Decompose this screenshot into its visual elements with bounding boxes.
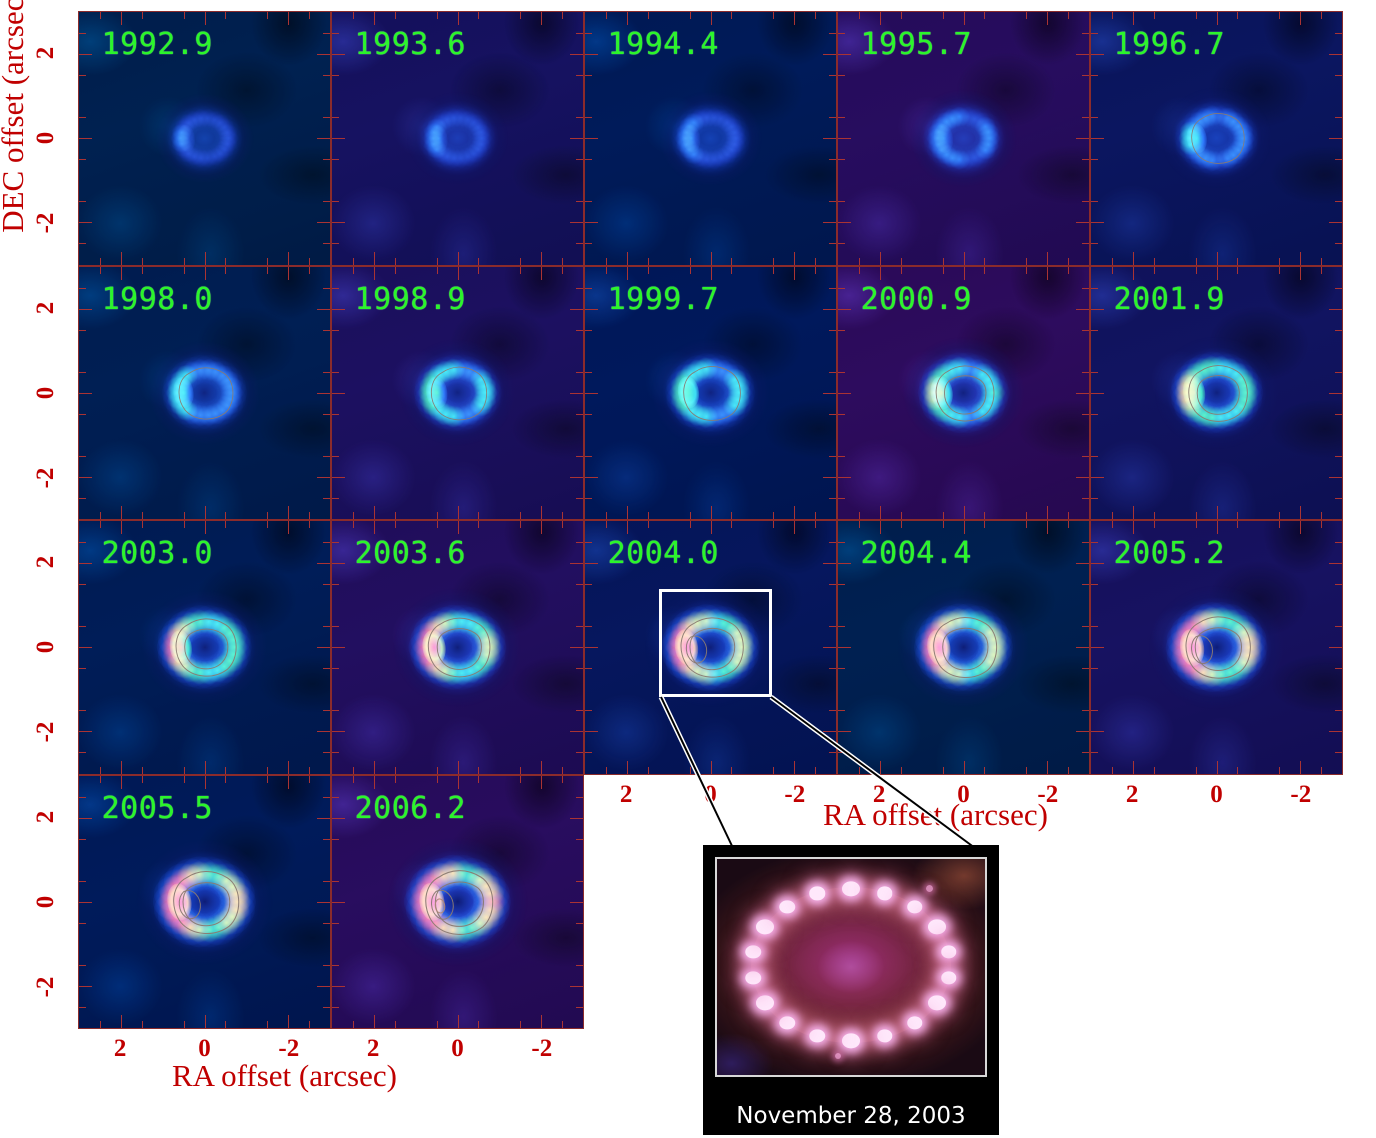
- axis-tick: [520, 267, 521, 274]
- axis-tick: [773, 267, 774, 274]
- axis-tick: [1329, 393, 1342, 394]
- axis-tick: [829, 456, 836, 457]
- axis-tick: [1091, 159, 1098, 160]
- axis-tick: [880, 761, 881, 774]
- axis-tick: [1026, 767, 1027, 774]
- axis-tick: [437, 512, 438, 519]
- axis-tick: [562, 1021, 563, 1028]
- axis-tick: [829, 752, 836, 753]
- axis-tick: [79, 923, 86, 924]
- axis-tick: [984, 512, 985, 519]
- axis-tick: [395, 12, 396, 19]
- epoch-panel-2005-5[interactable]: 2005.5: [78, 775, 331, 1030]
- axis-tick: [1237, 258, 1238, 265]
- axis-tick: [79, 902, 92, 903]
- axis-tick: [943, 267, 944, 274]
- epoch-panel-2006-2[interactable]: 2006.2: [331, 775, 584, 1030]
- hst-ring-knot: [746, 971, 762, 984]
- axis-tick: [984, 267, 985, 274]
- axis-tick: [901, 767, 902, 774]
- axis-tick: [184, 12, 185, 19]
- hst-inset-frame: [715, 857, 987, 1077]
- axis-tick: [773, 521, 774, 528]
- axis-tick: [1076, 54, 1089, 55]
- axis-tick: [859, 258, 860, 265]
- axis-tick: [79, 288, 86, 289]
- axis-tick: [374, 521, 375, 534]
- axis-tick: [184, 267, 185, 274]
- epoch-panel-2003-6[interactable]: 2003.6: [331, 520, 584, 775]
- axis-tick: [309, 267, 310, 274]
- axis-tick: [332, 138, 345, 139]
- axis-tick: [731, 267, 732, 274]
- epoch-panel-2003-0[interactable]: 2003.0: [78, 520, 331, 775]
- epoch-label: 1998.9: [355, 282, 466, 317]
- axis-tick: [1112, 258, 1113, 265]
- axis-tick: [541, 761, 542, 774]
- axis-tick: [288, 776, 289, 789]
- axis-tick: [838, 752, 845, 753]
- axis-tick: [576, 75, 583, 76]
- axis-tick: [576, 1007, 583, 1008]
- axis-tick: [332, 563, 345, 564]
- axis-tick: [1068, 512, 1069, 519]
- axis-tick: [576, 839, 583, 840]
- axis-tick: [1076, 393, 1089, 394]
- axis-tick: [1279, 512, 1280, 519]
- axis-tick: [121, 1015, 122, 1028]
- axis-tick: [323, 797, 330, 798]
- axis-tick: [288, 1015, 289, 1028]
- hst-ring-knot: [877, 887, 893, 900]
- axis-tick: [1091, 542, 1098, 543]
- axis-tick: [585, 477, 598, 478]
- epoch-label: 2005.2: [1114, 536, 1225, 571]
- axis-tick: [576, 965, 583, 966]
- supernova-ring-emission: [927, 105, 1000, 172]
- axis-tick: [332, 986, 345, 987]
- axis-tick: [437, 767, 438, 774]
- axis-tick: [576, 881, 583, 882]
- axis-tick: [838, 243, 845, 244]
- axis-tick: [838, 731, 851, 732]
- axis-tick: [100, 12, 101, 19]
- axis-tick: [79, 839, 86, 840]
- axis-tick: [332, 839, 339, 840]
- axis-tick: [829, 288, 836, 289]
- axis-tick: [323, 117, 330, 118]
- axis-tick: [288, 267, 289, 280]
- epoch-panel-1995-7[interactable]: 1995.7: [837, 11, 1090, 266]
- epoch-panel-2004-0[interactable]: 2004.0: [584, 520, 837, 775]
- axis-tick: [1196, 521, 1197, 528]
- axis-tick: [606, 258, 607, 265]
- axis-tick: [79, 414, 86, 415]
- axis-tick: [1068, 767, 1069, 774]
- axis-tick: [332, 75, 339, 76]
- axis-tick: [1329, 54, 1342, 55]
- axis-tick: [395, 521, 396, 528]
- axis-tick: [829, 372, 836, 373]
- axis-tick: [332, 923, 339, 924]
- hst-ring-knot: [941, 945, 957, 958]
- axis-tick: [1091, 477, 1104, 478]
- axis-tick: [1279, 12, 1280, 19]
- axis-tick: [1335, 33, 1342, 34]
- axis-tick: [267, 512, 268, 519]
- axis-tick: [79, 881, 86, 882]
- axis-tick: [332, 498, 339, 499]
- axis-tick: [332, 477, 345, 478]
- axis-tick: [1082, 710, 1089, 711]
- axis-tick: [458, 12, 459, 25]
- axis-tick: [1154, 12, 1155, 19]
- axis-tick: [880, 506, 881, 519]
- axis-tick: [1217, 12, 1218, 25]
- contour-overlay: [158, 859, 251, 945]
- axis-tick: [541, 776, 542, 789]
- axis-tick: [823, 309, 836, 310]
- axis-tick: [859, 521, 860, 528]
- axis-tick: [585, 54, 598, 55]
- axis-tick: [838, 117, 845, 118]
- axis-tick: [690, 12, 691, 19]
- axis-tick: [562, 267, 563, 274]
- axis-tick: [648, 512, 649, 519]
- axis-tick: [184, 258, 185, 265]
- epoch-panel-2005-2[interactable]: 2005.2: [1090, 520, 1343, 775]
- axis-tick: [1082, 372, 1089, 373]
- dec-tick-label: 0: [32, 387, 60, 400]
- axis-tick: [576, 668, 583, 669]
- axis-tick: [576, 923, 583, 924]
- axis-tick: [79, 138, 92, 139]
- axis-tick: [901, 512, 902, 519]
- axis-tick: [332, 797, 339, 798]
- axis-tick: [309, 1021, 310, 1028]
- axis-tick: [838, 563, 851, 564]
- axis-tick: [323, 159, 330, 160]
- supernova-ring-emission: [171, 107, 238, 169]
- axis-tick: [184, 776, 185, 783]
- hst-ejecta-core: [818, 941, 884, 993]
- epoch-panel-1998-9[interactable]: 1998.9: [331, 266, 584, 521]
- axis-tick: [570, 563, 583, 564]
- axis-tick: [711, 521, 712, 534]
- axis-tick: [815, 12, 816, 19]
- axis-tick: [317, 731, 330, 732]
- axis-tick: [648, 12, 649, 19]
- axis-tick: [823, 563, 836, 564]
- axis-tick: [964, 521, 965, 534]
- axis-tick: [317, 818, 330, 819]
- axis-tick: [267, 776, 268, 783]
- axis-tick: [606, 512, 607, 519]
- axis-tick: [570, 731, 583, 732]
- axis-tick: [79, 626, 86, 627]
- epoch-panel-2000-9[interactable]: 2000.9: [837, 266, 1090, 521]
- contour-overlay: [666, 606, 755, 688]
- axis-tick: [317, 902, 330, 903]
- axis-tick: [838, 54, 851, 55]
- axis-tick: [1076, 477, 1089, 478]
- axis-tick: [829, 33, 836, 34]
- axis-tick: [332, 584, 339, 585]
- axis-tick: [838, 288, 845, 289]
- axis-tick: [323, 881, 330, 882]
- axis-tick: [1091, 75, 1098, 76]
- axis-tick: [478, 12, 479, 19]
- axis-tick: [1068, 258, 1069, 265]
- axis-tick: [1329, 647, 1342, 648]
- axis-tick: [1300, 761, 1301, 774]
- axis-tick: [317, 222, 330, 223]
- supernova-ring-emission: [675, 106, 746, 171]
- dec-tick-label: 2: [32, 556, 60, 569]
- axis-tick: [585, 731, 598, 732]
- axis-tick: [838, 542, 845, 543]
- axis-tick: [901, 521, 902, 528]
- axis-tick: [142, 12, 143, 19]
- axis-tick: [1026, 258, 1027, 265]
- axis-tick: [121, 521, 122, 534]
- axis-tick: [1154, 267, 1155, 274]
- axis-tick: [1335, 243, 1342, 244]
- axis-tick: [1133, 761, 1134, 774]
- axis-tick: [627, 12, 628, 25]
- axis-tick: [576, 33, 583, 34]
- axis-tick: [100, 521, 101, 528]
- ra-axis-title-row4: RA offset (arcsec): [172, 1058, 397, 1094]
- dec-tick-label: -2: [32, 722, 60, 743]
- figure-root: DEC offset (arcsec) 1992.91993.61994.419…: [0, 0, 1376, 1138]
- axis-tick: [773, 12, 774, 19]
- axis-tick: [288, 761, 289, 774]
- axis-tick: [332, 626, 339, 627]
- axis-tick: [585, 309, 598, 310]
- axis-tick: [1335, 288, 1342, 289]
- axis-tick: [100, 512, 101, 519]
- contour-overlay: [919, 606, 1009, 689]
- axis-tick: [332, 33, 339, 34]
- axis-tick: [838, 201, 845, 202]
- axis-tick: [79, 393, 92, 394]
- axis-tick: [829, 75, 836, 76]
- axis-tick: [829, 542, 836, 543]
- axis-tick: [562, 776, 563, 783]
- axis-tick: [964, 12, 965, 25]
- axis-tick: [1091, 668, 1098, 669]
- axis-tick: [1196, 512, 1197, 519]
- axis-tick: [142, 258, 143, 265]
- axis-tick: [1091, 626, 1098, 627]
- axis-tick: [184, 1021, 185, 1028]
- axis-tick: [570, 54, 583, 55]
- axis-tick: [585, 75, 592, 76]
- axis-tick: [142, 267, 143, 274]
- axis-tick: [838, 710, 845, 711]
- axis-tick: [1335, 330, 1342, 331]
- axis-tick: [1321, 258, 1322, 265]
- axis-tick: [323, 372, 330, 373]
- axis-tick: [838, 498, 845, 499]
- axis-tick: [1076, 647, 1089, 648]
- axis-tick: [332, 393, 345, 394]
- axis-tick: [1154, 767, 1155, 774]
- axis-tick: [585, 201, 592, 202]
- axis-tick: [576, 414, 583, 415]
- axis-tick: [570, 986, 583, 987]
- axis-tick: [1335, 75, 1342, 76]
- epoch-panel-1996-7[interactable]: 1996.7: [1090, 11, 1343, 266]
- axis-tick: [1237, 521, 1238, 528]
- axis-tick: [576, 117, 583, 118]
- ra-tick-label: 0: [704, 781, 717, 809]
- axis-tick: [1321, 521, 1322, 528]
- axis-tick: [570, 309, 583, 310]
- hst-ring-knot: [907, 1016, 923, 1029]
- axis-tick: [79, 710, 86, 711]
- axis-tick: [79, 542, 86, 543]
- axis-tick: [374, 267, 375, 280]
- axis-tick: [100, 776, 101, 783]
- axis-tick: [711, 12, 712, 25]
- epoch-panel-1998-0[interactable]: 1998.0: [78, 266, 331, 521]
- axis-tick: [576, 159, 583, 160]
- dec-tick-label: -2: [32, 467, 60, 488]
- axis-tick: [374, 776, 375, 789]
- axis-tick: [458, 506, 459, 519]
- axis-tick: [1196, 12, 1197, 19]
- axis-tick: [838, 138, 851, 139]
- axis-tick: [79, 222, 92, 223]
- axis-tick: [323, 584, 330, 585]
- axis-tick: [815, 267, 816, 274]
- axis-tick: [562, 258, 563, 265]
- axis-tick: [1335, 372, 1342, 373]
- axis-tick: [1082, 243, 1089, 244]
- axis-tick: [1237, 267, 1238, 274]
- hst-ring-knot: [941, 971, 957, 984]
- axis-tick: [79, 477, 92, 478]
- axis-tick: [1091, 201, 1098, 202]
- axis-tick: [225, 1021, 226, 1028]
- axis-tick: [1047, 267, 1048, 280]
- axis-tick: [1026, 267, 1027, 274]
- epoch-panel-1999-7[interactable]: 1999.7: [584, 266, 837, 521]
- axis-tick: [332, 902, 345, 903]
- axis-tick: [205, 776, 206, 789]
- epoch-panel-2001-9[interactable]: 2001.9: [1090, 266, 1343, 521]
- axis-tick: [353, 12, 354, 19]
- axis-tick: [838, 647, 851, 648]
- axis-tick: [562, 512, 563, 519]
- hst-ring-knot: [907, 900, 923, 913]
- axis-tick: [838, 372, 845, 373]
- axis-tick: [225, 767, 226, 774]
- axis-tick: [1133, 521, 1134, 534]
- axis-tick: [323, 33, 330, 34]
- axis-tick: [648, 767, 649, 774]
- axis-tick: [1112, 767, 1113, 774]
- axis-tick: [478, 1021, 479, 1028]
- axis-tick: [374, 12, 375, 25]
- ra-axis-title-row3: RA offset (arcsec): [823, 797, 1048, 833]
- epoch-label: 1993.6: [355, 27, 466, 62]
- axis-tick: [1091, 33, 1098, 34]
- epoch-panel-2004-4[interactable]: 2004.4: [837, 520, 1090, 775]
- axis-tick: [288, 521, 289, 534]
- axis-tick: [79, 818, 92, 819]
- axis-tick: [1133, 506, 1134, 519]
- axis-tick: [309, 512, 310, 519]
- axis-tick: [1196, 258, 1197, 265]
- axis-tick: [964, 267, 965, 280]
- axis-tick: [332, 731, 345, 732]
- contour-overlay: [670, 355, 751, 430]
- axis-tick: [576, 330, 583, 331]
- axis-tick: [1091, 584, 1098, 585]
- epoch-label: 1999.7: [608, 282, 719, 317]
- axis-tick: [576, 710, 583, 711]
- axis-tick: [1321, 512, 1322, 519]
- axis-tick: [225, 521, 226, 528]
- axis-tick: [984, 767, 985, 774]
- axis-tick: [838, 33, 845, 34]
- axis-tick: [585, 288, 592, 289]
- axis-tick: [121, 506, 122, 519]
- axis-tick: [395, 776, 396, 783]
- axis-tick: [1076, 309, 1089, 310]
- axis-tick: [332, 881, 339, 882]
- axis-tick: [794, 12, 795, 25]
- contour-overlay: [1171, 605, 1263, 690]
- hst-inset-caption: November 28, 2003: [703, 1103, 999, 1129]
- axis-tick: [478, 512, 479, 519]
- axis-tick: [829, 117, 836, 118]
- axis-tick: [570, 647, 583, 648]
- epoch-panel-1993-6[interactable]: 1993.6: [331, 11, 584, 266]
- axis-tick: [121, 267, 122, 280]
- contour-overlay: [166, 357, 243, 428]
- contour-overlay: [1179, 104, 1254, 173]
- axis-tick: [838, 222, 851, 223]
- axis-tick: [794, 761, 795, 774]
- axis-tick: [323, 201, 330, 202]
- axis-tick: [1335, 117, 1342, 118]
- axis-tick: [585, 138, 598, 139]
- axis-tick: [823, 731, 836, 732]
- axis-tick: [823, 138, 836, 139]
- axis-tick: [576, 752, 583, 753]
- epoch-panel-1994-4[interactable]: 1994.4: [584, 11, 837, 266]
- axis-tick: [332, 647, 345, 648]
- axis-tick: [1091, 414, 1098, 415]
- dec-tick-label: -2: [32, 976, 60, 997]
- axis-tick: [1082, 752, 1089, 753]
- axis-tick: [1279, 521, 1280, 528]
- axis-tick: [1133, 267, 1134, 280]
- epoch-label: 1994.4: [608, 27, 719, 62]
- axis-tick: [880, 252, 881, 265]
- axis-tick: [1047, 12, 1048, 25]
- axis-tick: [1237, 12, 1238, 19]
- axis-tick: [288, 12, 289, 25]
- axis-tick: [1082, 33, 1089, 34]
- epoch-panel-1992-9[interactable]: 1992.9: [78, 11, 331, 266]
- axis-tick: [1082, 498, 1089, 499]
- axis-tick: [520, 1021, 521, 1028]
